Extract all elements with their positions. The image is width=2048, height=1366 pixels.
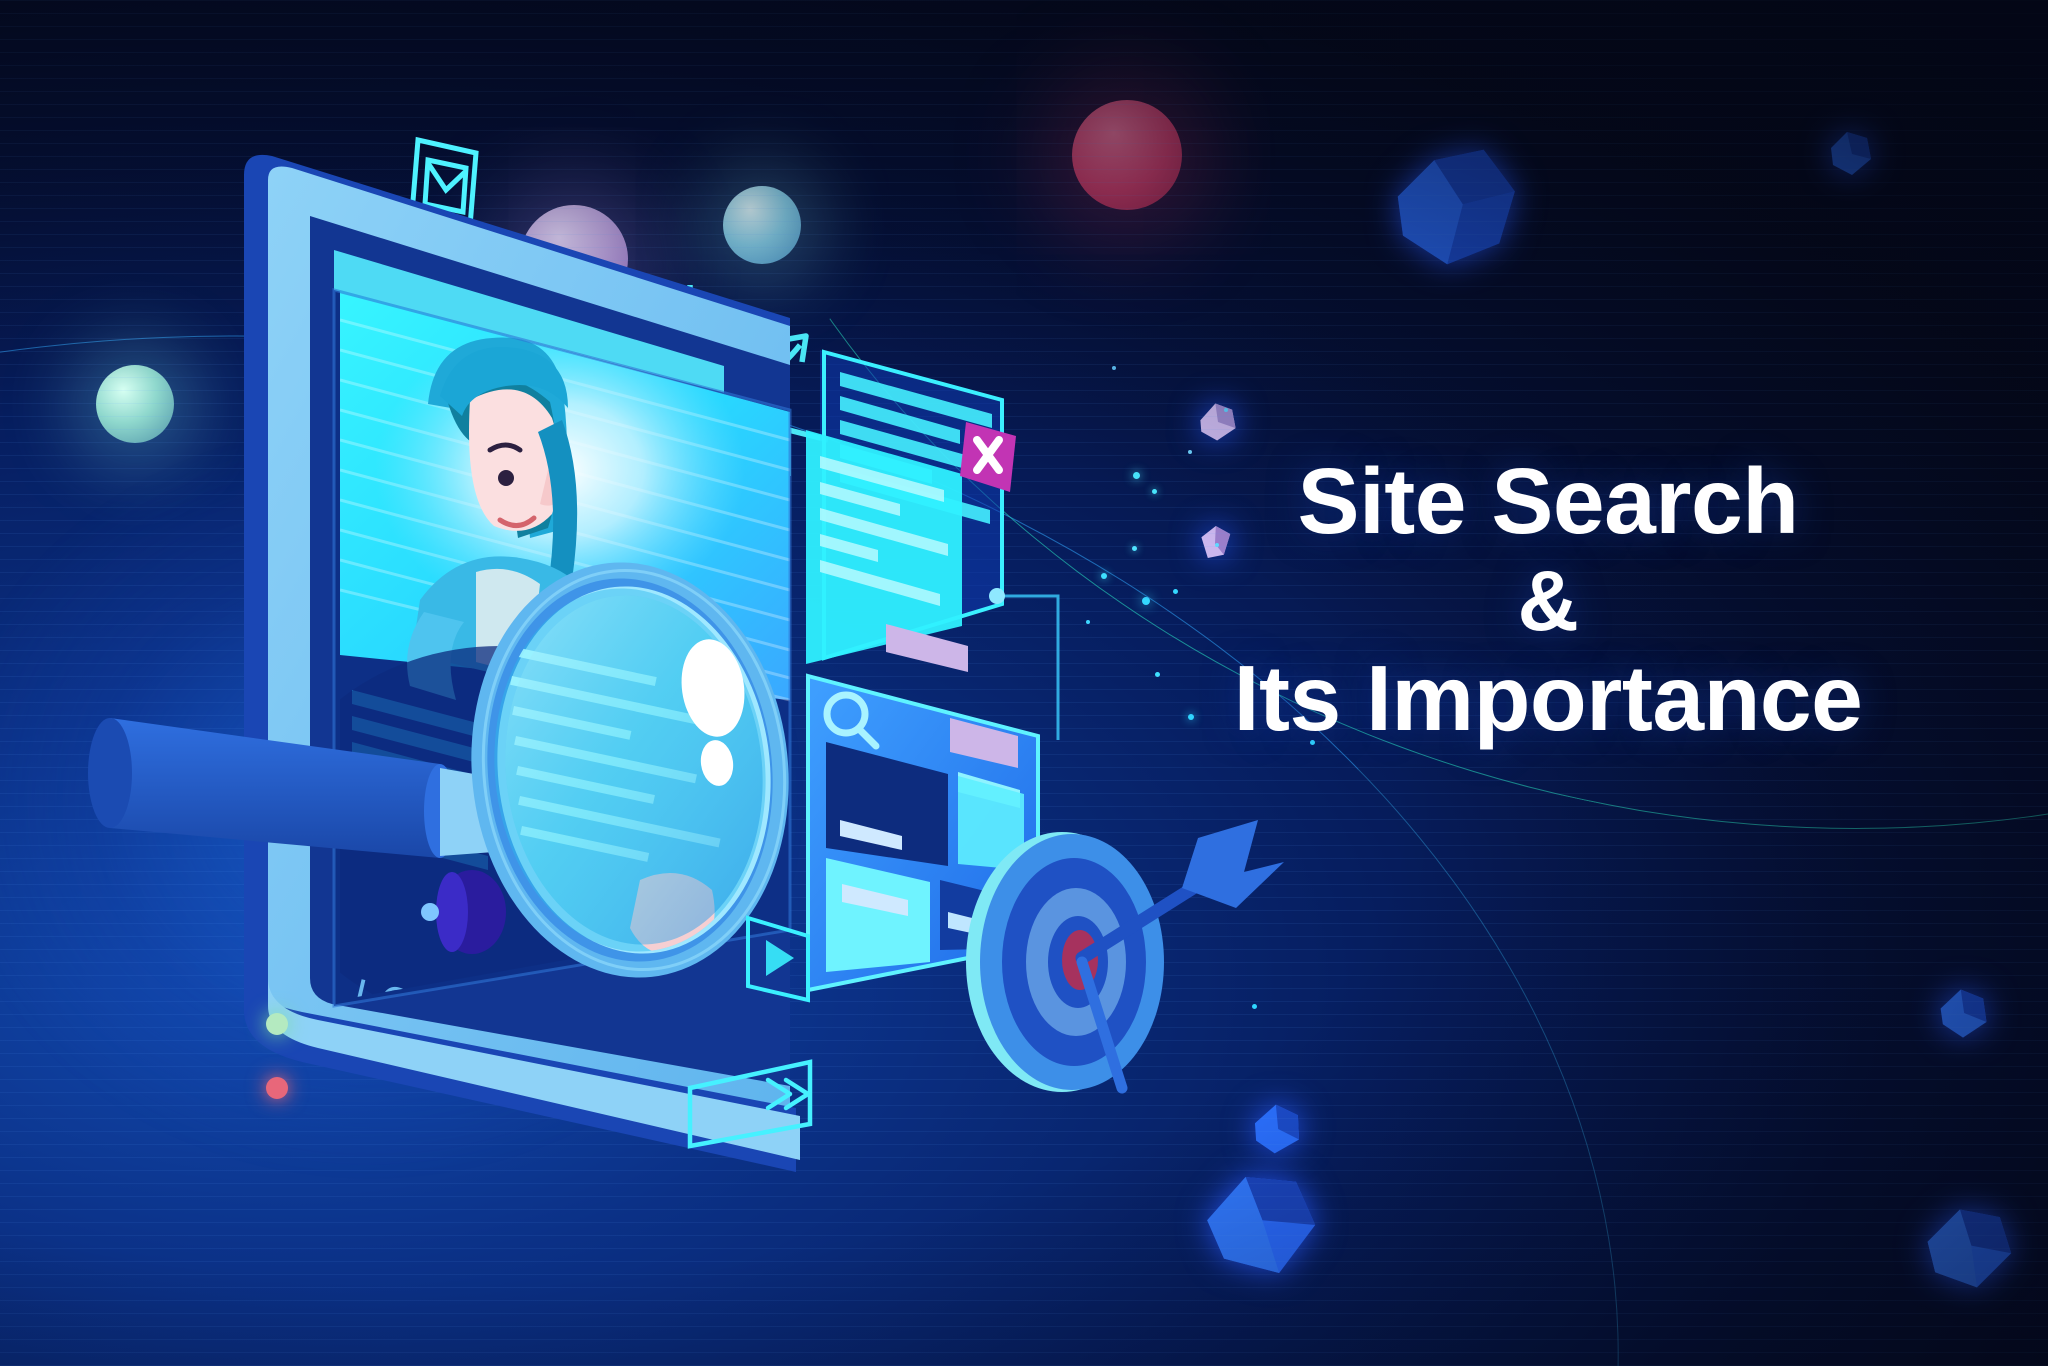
crystal-top-cube [1390,142,1520,272]
crystal-top-right [1825,128,1875,178]
headline-line-1: Site Search [1118,452,1978,551]
crystal-mid-a [1196,400,1240,444]
crystal-low-right-b [1920,1200,2015,1295]
crystal-bottom-b [1200,1165,1320,1285]
headline: Site Search & Its Importance [1118,452,1978,747]
headline-line-3: Its Importance [1118,649,1978,748]
led-green [266,1013,288,1035]
crystal-low-right-a [1935,985,1991,1041]
particle [1252,1004,1257,1009]
hero-illustration: LOREM IPSUM [0,0,1180,1200]
headline-line-2: & [1118,557,1978,647]
crystal-bottom-a [1248,1100,1306,1158]
particle [1224,408,1228,412]
hero-banner: LOREM IPSUM [0,0,2048,1366]
led-red [266,1077,288,1099]
browser-window [806,350,1058,740]
